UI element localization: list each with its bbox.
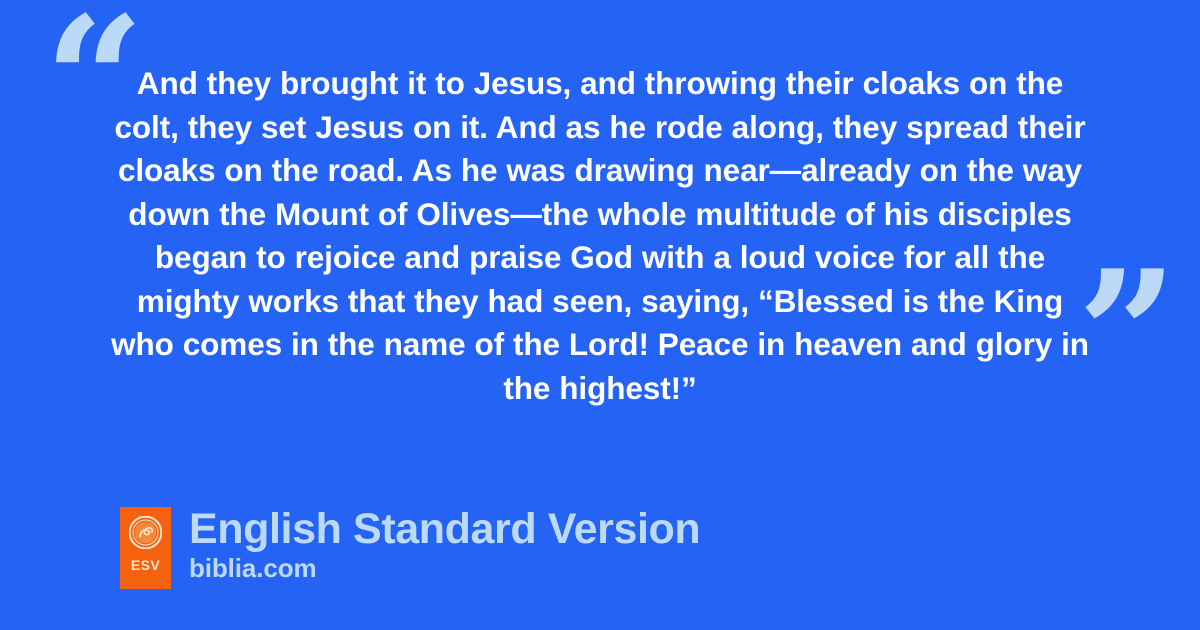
closing-quote-icon: ” (1077, 248, 1176, 423)
translation-title: English Standard Version (189, 504, 700, 554)
esv-seal-icon (129, 516, 162, 549)
quote-text: And they brought it to Jesus, and throwi… (110, 62, 1090, 410)
esv-logo-label: ESV (131, 558, 160, 572)
esv-logo: ESV (120, 507, 171, 589)
brand-text-block: English Standard Version biblia.com (189, 504, 700, 583)
quote-card: “ And they brought it to Jesus, and thro… (0, 0, 1200, 630)
brand-footer: ESV English Standard Version biblia.com (120, 507, 700, 589)
site-url: biblia.com (189, 554, 700, 583)
